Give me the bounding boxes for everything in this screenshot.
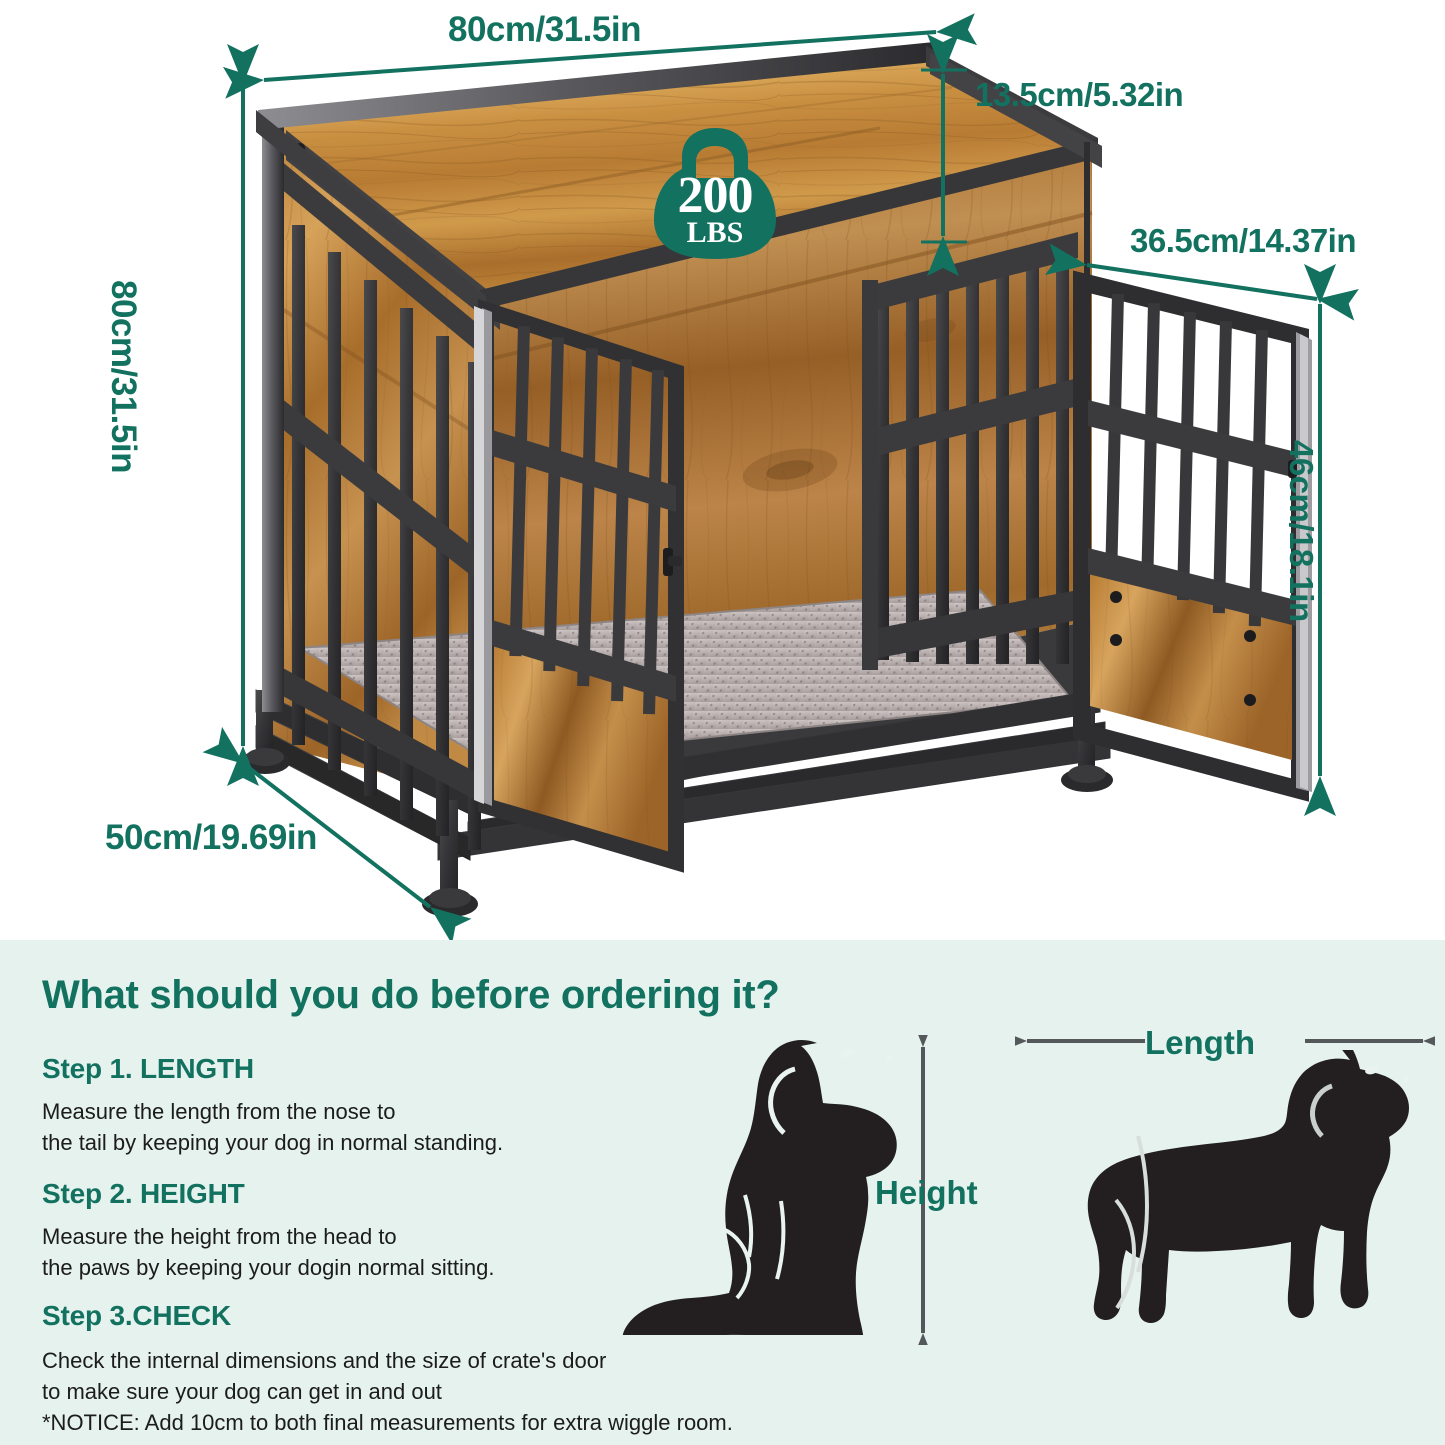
step-2-line-1: Measure the height from the head to xyxy=(42,1221,494,1252)
step-2-heading: Step 2. HEIGHT xyxy=(42,1178,245,1210)
step-1-heading: Step 1. LENGTH xyxy=(42,1053,254,1085)
dimension-label-door-width: 36.5cm/14.37in xyxy=(1130,222,1356,260)
badge-weight-value: 200 xyxy=(650,170,780,222)
sitting-dog-silhouette xyxy=(605,1025,905,1335)
step-2-line-2: the paws by keeping your dogin normal si… xyxy=(42,1252,494,1283)
sizing-guide-panel: What should you do before ordering it? S… xyxy=(0,940,1445,1445)
step-1-line-1: Measure the length from the nose to xyxy=(42,1096,503,1127)
step-3-heading: Step 3.CHECK xyxy=(42,1300,231,1332)
door-width-dimension-arrow xyxy=(1075,255,1335,305)
height-measure-label: Height xyxy=(875,1174,978,1212)
roof-overhang-dimension-arrow xyxy=(915,60,975,250)
weight-capacity-badge: 200 LBS xyxy=(650,126,780,261)
step-2-body: Measure the height from the head to the … xyxy=(42,1221,494,1283)
product-dimension-panel: 80cm/31.5in 13.5cm/5.32in 36.5cm/14.37in… xyxy=(0,0,1445,940)
guide-title: What should you do before ordering it? xyxy=(42,973,779,1018)
dimension-label-height: 80cm/31.5in xyxy=(103,280,143,473)
step-3-line-3: *NOTICE: Add 10cm to both final measurem… xyxy=(42,1407,733,1438)
step-1-line-2: the tail by keeping your dog in normal s… xyxy=(42,1127,503,1158)
dimension-label-depth: 50cm/19.69in xyxy=(105,818,317,858)
dimension-label-width: 80cm/31.5in xyxy=(448,10,641,50)
badge-weight-unit: LBS xyxy=(650,218,780,248)
infographic-root: 80cm/31.5in 13.5cm/5.32in 36.5cm/14.37in… xyxy=(0,0,1445,1445)
dimension-label-door-height: 46cm/18.1in xyxy=(1282,440,1320,622)
length-measure-label: Length xyxy=(1145,1024,1255,1062)
step-3-body: Check the internal dimensions and the si… xyxy=(42,1345,733,1438)
step-1-body: Measure the length from the nose to the … xyxy=(42,1096,503,1158)
dimension-label-roof-overhang: 13.5cm/5.32in xyxy=(975,76,1183,114)
step-3-line-2: to make sure your dog can get in and out xyxy=(42,1376,733,1407)
step-3-line-1: Check the internal dimensions and the si… xyxy=(42,1345,733,1376)
standing-dog-silhouette xyxy=(1020,1050,1420,1340)
height-dimension-arrow xyxy=(225,70,265,760)
